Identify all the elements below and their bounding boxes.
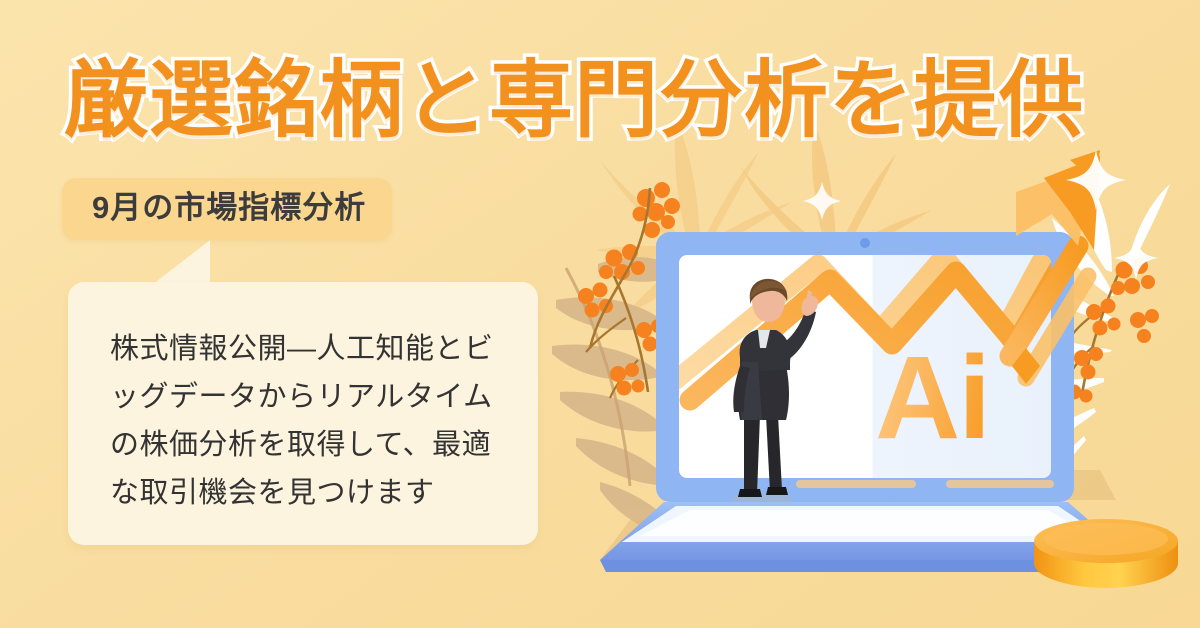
banner-canvas: 厳選銘柄と専門分析を提供 9月の市場指標分析 株式情報公開—人工知能とビッグデー…	[0, 0, 1200, 628]
ai-label: Ai	[875, 339, 989, 457]
status-badge: 9月の市場指標分析	[62, 178, 392, 240]
description-text: 株式情報公開—人工知能とビッグデータからリアルタイムの株価分析を取得して、最適な…	[110, 325, 510, 517]
webcam-dot	[860, 238, 870, 248]
gold-coin	[1034, 519, 1178, 588]
speech-bubble-tail	[148, 240, 210, 288]
description-card: 株式情報公開—人工知能とビッグデータからリアルタイムの株価分析を取得して、最適な…	[68, 282, 538, 545]
ai-diamond-dot	[1006, 346, 1046, 386]
page-title: 厳選銘柄と専門分析を提供	[64, 52, 1084, 148]
